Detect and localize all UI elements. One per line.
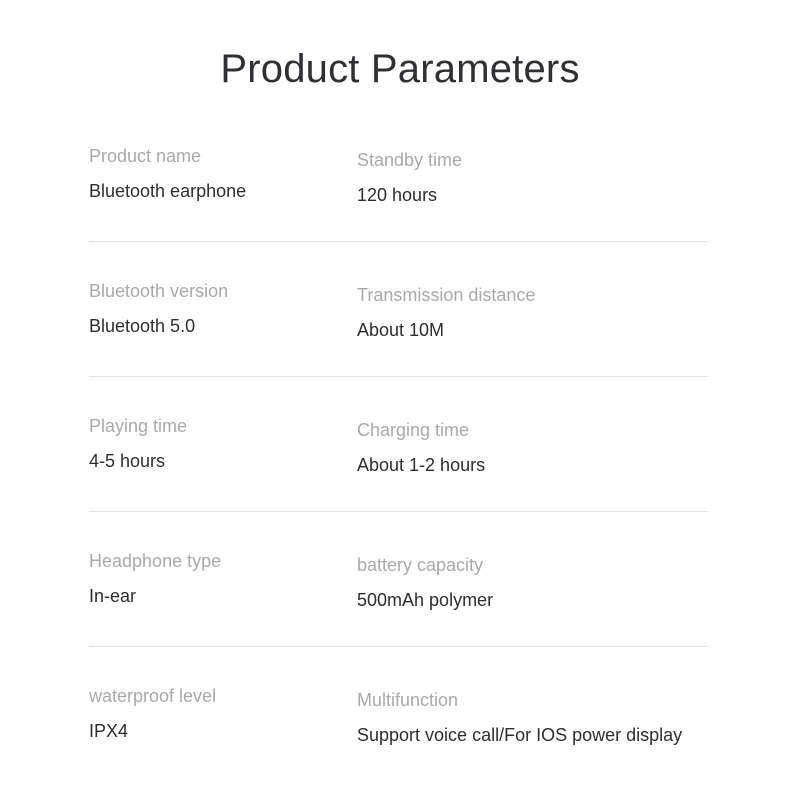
spec-cell-left: Headphone type In-ear: [0, 539, 345, 674]
spec-cell-right: Charging time About 1-2 hours: [345, 404, 800, 539]
spec-cell-right: Standby time 120 hours: [345, 134, 800, 269]
row-divider: [89, 376, 708, 377]
table-row: Playing time 4-5 hours Charging time Abo…: [0, 404, 800, 539]
spec-value: 500mAh polymer: [357, 589, 800, 612]
spec-value: About 1-2 hours: [357, 454, 800, 477]
spec-label: battery capacity: [357, 554, 800, 577]
spec-value: Bluetooth 5.0: [89, 315, 345, 338]
spec-cell-right: Transmission distance About 10M: [345, 269, 800, 404]
spec-table: Product name Bluetooth earphone Standby …: [0, 134, 800, 809]
spec-value: IPX4: [89, 720, 345, 743]
spec-label: Multifunction: [357, 689, 800, 712]
spec-cell-left: Playing time 4-5 hours: [0, 404, 345, 539]
page-title: Product Parameters: [0, 45, 800, 93]
spec-value: 4-5 hours: [89, 450, 345, 473]
table-row: Bluetooth version Bluetooth 5.0 Transmis…: [0, 269, 800, 404]
spec-label: Bluetooth version: [89, 280, 345, 303]
table-row: waterproof level IPX4 Multifunction Supp…: [0, 674, 800, 809]
row-divider: [89, 646, 708, 647]
spec-cell-left: Product name Bluetooth earphone: [0, 134, 345, 269]
spec-label: Headphone type: [89, 550, 345, 573]
spec-cell-left: waterproof level IPX4: [0, 674, 345, 809]
spec-label: Playing time: [89, 415, 345, 438]
spec-value: About 10M: [357, 319, 800, 342]
table-row: Headphone type In-ear battery capacity 5…: [0, 539, 800, 674]
product-parameters-page: Product Parameters Product name Bluetoot…: [0, 0, 800, 800]
spec-label: Product name: [89, 145, 345, 168]
spec-value: 120 hours: [357, 184, 800, 207]
spec-cell-right: battery capacity 500mAh polymer: [345, 539, 800, 674]
spec-cell-left: Bluetooth version Bluetooth 5.0: [0, 269, 345, 404]
spec-value: Support voice call/For IOS power display: [357, 724, 800, 747]
spec-label: Standby time: [357, 149, 800, 172]
row-divider: [89, 241, 708, 242]
spec-label: Transmission distance: [357, 284, 800, 307]
table-row: Product name Bluetooth earphone Standby …: [0, 134, 800, 269]
spec-label: waterproof level: [89, 685, 345, 708]
spec-label: Charging time: [357, 419, 800, 442]
spec-cell-right: Multifunction Support voice call/For IOS…: [345, 674, 800, 809]
spec-value: In-ear: [89, 585, 345, 608]
row-divider: [89, 511, 708, 512]
spec-value: Bluetooth earphone: [89, 180, 345, 203]
